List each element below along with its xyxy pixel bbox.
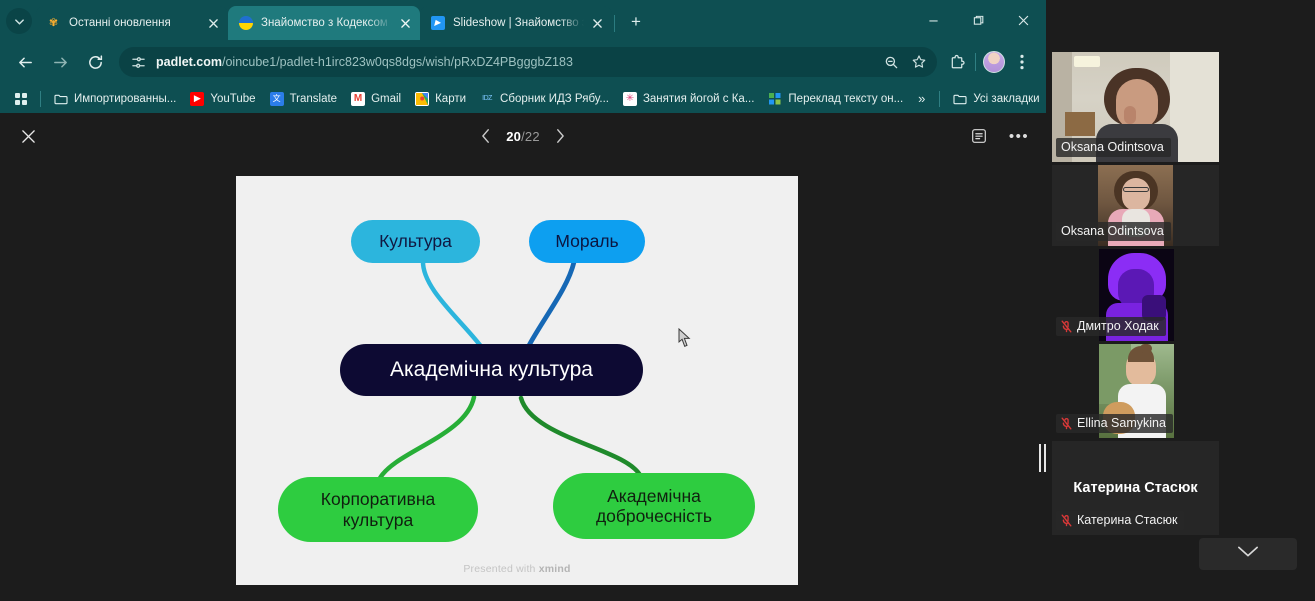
- url-text: padlet.com/oincube1/padlet-h1irc823w0qs8…: [156, 55, 573, 69]
- bookmark-youtube[interactable]: ▶ YouTube: [183, 89, 262, 109]
- bookmark-translate[interactable]: 文 Translate: [263, 89, 345, 109]
- back-icon[interactable]: [10, 47, 40, 77]
- flower-icon: ✾: [46, 16, 61, 31]
- participant-name-badge: Oksana Odintsova: [1056, 222, 1171, 241]
- tab-strip: ✾ Останні оновлення Знайомство з Кодексо…: [0, 0, 1046, 40]
- mic-off-icon: [1061, 417, 1072, 430]
- folder-icon: [54, 92, 68, 106]
- participant-name-badge: Катерина Стасюк: [1056, 511, 1184, 530]
- mic-off-icon: [1061, 514, 1072, 527]
- apps-grid-icon[interactable]: [8, 90, 34, 108]
- document-icon: IDZ: [480, 92, 494, 106]
- close-icon[interactable]: [1001, 3, 1046, 37]
- tab-slideshow[interactable]: ▶ Slideshow | Знайомство з Коде: [420, 6, 612, 40]
- video-conference-sidebar: Oksana Odintsova Oksana Odintsova: [1046, 0, 1315, 601]
- participant-tile-active-speaker[interactable]: Oksana Odintsova: [1052, 52, 1219, 162]
- tab-znaiomstvo-z-kodeksom[interactable]: Знайомство з Кодексом акаде: [228, 6, 420, 40]
- previous-page-button[interactable]: [480, 128, 492, 144]
- next-page-button[interactable]: [554, 128, 566, 144]
- tab-divider: [614, 15, 615, 32]
- viewer-close-button[interactable]: [14, 122, 42, 150]
- profile-avatar[interactable]: [980, 48, 1008, 76]
- ukraine-flag-icon: [238, 16, 253, 31]
- mindmap-node-root[interactable]: Академічна культура: [340, 344, 643, 396]
- slide-area: Культура Мораль Академічна культура Корп…: [0, 159, 1046, 601]
- participant-display-name: Катерина Стасюк: [1052, 480, 1219, 496]
- bookmark-label: Карти: [435, 93, 466, 105]
- bookmark-divider: [939, 91, 940, 107]
- bookmark-yoga[interactable]: ✳ Занятия йогой с Ка...: [616, 89, 761, 109]
- tab-ostanni-onovlennya[interactable]: ✾ Останні оновлення: [36, 6, 228, 40]
- bookmarks-overflow-button[interactable]: »: [910, 91, 933, 106]
- maps-icon: [415, 92, 429, 106]
- tab-close-icon[interactable]: [588, 14, 606, 32]
- bookmark-label: YouTube: [210, 93, 255, 105]
- toolbar-divider: [975, 53, 976, 71]
- mindmap-node-culture[interactable]: Культура: [351, 220, 480, 263]
- node-line-2: доброчесність: [596, 506, 712, 526]
- yoga-icon: ✳: [623, 92, 637, 106]
- scroll-down-button[interactable]: [1199, 538, 1297, 570]
- address-bar[interactable]: padlet.com/oincube1/padlet-h1irc823w0qs8…: [119, 47, 937, 77]
- node-line-1: Корпоративна: [321, 489, 435, 509]
- participant-name-badge: Ellina Samykina: [1056, 414, 1173, 433]
- maximize-icon[interactable]: [956, 3, 1001, 37]
- notes-icon[interactable]: [966, 123, 992, 149]
- translate-app-icon: [768, 92, 782, 106]
- participant-name: Oksana Odintsova: [1061, 140, 1164, 154]
- youtube-icon: ▶: [190, 92, 204, 106]
- bookmark-divider: [40, 91, 41, 107]
- xmind-watermark: Presented with xmind: [236, 563, 798, 575]
- total-pages: 22: [525, 129, 540, 144]
- bookmarks-bar-right: » Усі закладки: [910, 89, 1046, 109]
- participant-tile[interactable]: Oksana Odintsova: [1052, 165, 1219, 246]
- participant-name: Oksana Odintsova: [1061, 224, 1164, 238]
- play-icon: ▶: [430, 16, 445, 31]
- watermark-brand: xmind: [539, 563, 571, 575]
- participant-tile[interactable]: Дмитро Ходак: [1052, 249, 1219, 341]
- bookmark-star-icon[interactable]: [911, 54, 927, 70]
- viewer-toolbar-right: •••: [966, 123, 1032, 149]
- new-tab-button[interactable]: +: [623, 9, 649, 35]
- bookmarks-bar: Импортированны... ▶ YouTube 文 Translate …: [0, 84, 1046, 113]
- more-options-icon[interactable]: •••: [1006, 123, 1032, 149]
- window-controls: [911, 0, 1046, 40]
- chrome-menu-icon[interactable]: [1008, 48, 1036, 76]
- tab-title: Останні оновлення: [69, 17, 200, 29]
- tab-close-icon[interactable]: [204, 14, 222, 32]
- site-settings-icon[interactable]: [131, 55, 146, 70]
- minimize-icon[interactable]: [911, 3, 956, 37]
- gmail-icon: M: [351, 92, 365, 106]
- tab-title: Slideshow | Знайомство з Коде: [453, 17, 584, 29]
- mindmap-node-academic-integrity[interactable]: Академічна доброчесність: [553, 473, 755, 539]
- navigation-bar: padlet.com/oincube1/padlet-h1irc823w0qs8…: [0, 40, 1046, 84]
- current-page: 20: [506, 129, 521, 144]
- bookmark-pereklad-tekstu[interactable]: Переклад тексту он...: [761, 89, 910, 109]
- mindmap-node-corporate-culture[interactable]: Корпоративна культура: [278, 477, 478, 542]
- node-line-2: культура: [343, 510, 413, 530]
- padlet-post-viewer: 20/22 •••: [0, 113, 1046, 601]
- url-domain: padlet.com: [156, 55, 222, 69]
- participant-name-badge: Дмитро Ходак: [1056, 317, 1166, 336]
- mouse-cursor: [678, 328, 691, 352]
- watermark-prefix: Presented with: [463, 563, 535, 575]
- viewer-drag-handle[interactable]: [1039, 444, 1046, 472]
- mindmap-node-moral[interactable]: Мораль: [529, 220, 645, 263]
- participant-name-badge: Oksana Odintsova: [1056, 138, 1171, 157]
- forward-icon[interactable]: [45, 47, 75, 77]
- omnibox-actions: [874, 54, 927, 70]
- node-line-1: Академічна: [607, 486, 701, 506]
- participant-name: Ellina Samykina: [1077, 416, 1166, 430]
- url-path: /oincube1/padlet-h1irc823w0qs8dgs/wish/p…: [222, 55, 573, 69]
- page-indicator: 20/22: [506, 129, 540, 144]
- participant-name: Дмитро Ходак: [1077, 319, 1159, 333]
- reload-icon[interactable]: [80, 47, 110, 77]
- all-bookmarks-label: Усі закладки: [973, 93, 1039, 105]
- bookmark-label: Импортированны...: [74, 93, 176, 105]
- bookmark-label: Переклад тексту он...: [788, 93, 903, 105]
- zoom-out-icon[interactable]: [884, 55, 899, 70]
- bookmark-imported[interactable]: Импортированны...: [47, 89, 183, 109]
- translate-icon: 文: [270, 92, 284, 106]
- participant-name: Катерина Стасюк: [1077, 513, 1177, 527]
- bookmark-label: Сборник ИДЗ Рябу...: [500, 93, 609, 105]
- bookmark-gmail[interactable]: M Gmail: [344, 89, 408, 109]
- tab-search-button[interactable]: [6, 8, 32, 34]
- mic-off-icon: [1061, 320, 1072, 333]
- bookmark-label: Translate: [290, 93, 338, 105]
- tab-close-icon[interactable]: [396, 14, 414, 32]
- extensions-icon[interactable]: [943, 48, 971, 76]
- bookmark-sbornik-idz[interactable]: IDZ Сборник ИДЗ Рябу...: [473, 89, 616, 109]
- participant-tile[interactable]: Ellina Samykina: [1052, 344, 1219, 438]
- mindmap-slide[interactable]: Культура Мораль Академічна культура Корп…: [236, 176, 798, 585]
- mindmap: Культура Мораль Академічна культура Корп…: [236, 176, 798, 585]
- bookmark-maps[interactable]: Карти: [408, 89, 473, 109]
- page-navigation: 20/22: [443, 128, 603, 144]
- all-bookmarks-button[interactable]: Усі закладки: [946, 89, 1046, 109]
- screen: ✾ Останні оновлення Знайомство з Кодексо…: [0, 0, 1315, 601]
- browser-window: ✾ Останні оновлення Знайомство з Кодексо…: [0, 0, 1046, 601]
- tab-title: Знайомство з Кодексом акаде: [261, 17, 392, 29]
- bookmark-label: Gmail: [371, 93, 401, 105]
- chevron-down-icon: [1237, 545, 1259, 563]
- viewer-toolbar: 20/22 •••: [0, 113, 1046, 159]
- participant-tile-no-video[interactable]: Катерина Стасюк Катерина Стасюк: [1052, 441, 1219, 535]
- bookmark-label: Занятия йогой с Ка...: [643, 93, 754, 105]
- folder-icon: [953, 92, 967, 106]
